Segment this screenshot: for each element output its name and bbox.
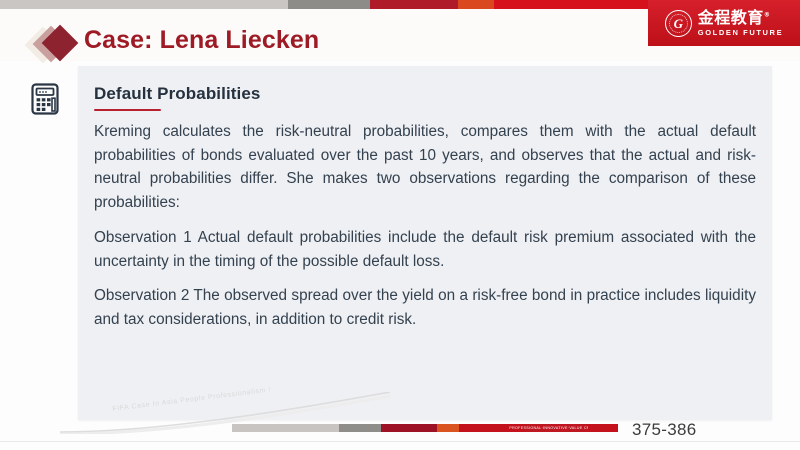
- topbar-segment-dark-gray: [288, 0, 370, 9]
- footer-tagline: PROFESSIONAL·INNOVATIVE·VALUE CREATING: [526, 424, 588, 432]
- footbar-segment-orange: [437, 424, 459, 432]
- content-panel: Default Probabilities Kreming calculates…: [78, 66, 772, 420]
- footer-decorative-bar: PROFESSIONAL·INNOVATIVE·VALUE CREATING: [232, 424, 618, 432]
- section-heading: Default Probabilities: [94, 84, 260, 104]
- paragraph-intro: Kreming calculates the risk-neutral prob…: [94, 120, 756, 215]
- footbar-segment-red-end: [588, 424, 618, 432]
- slide-canvas: Case: Lena Liecken G 金程教育® GOLDEN FUTURE: [0, 0, 800, 450]
- footbar-segment-light-gray: [232, 424, 339, 432]
- topbar-segment-light-gray: [0, 0, 288, 9]
- paragraph-observation-1: Observation 1 Actual default probabiliti…: [94, 226, 756, 273]
- logo-registered-mark: ®: [764, 11, 771, 18]
- footbar-segment-mid-gray: [339, 424, 381, 432]
- calculator-icon: [28, 82, 62, 116]
- topbar-segment-dark-red: [370, 0, 458, 9]
- logo-name-en: GOLDEN FUTURE: [698, 29, 783, 37]
- logo-seal-glyph: G: [674, 17, 683, 30]
- bottom-divider: [0, 441, 800, 442]
- page-number: 375-386: [632, 420, 697, 440]
- brand-logo: G 金程教育® GOLDEN FUTURE: [648, 0, 800, 46]
- paragraph-observation-2: Observation 2 The observed spread over t…: [94, 284, 756, 331]
- page-title: Case: Lena Liecken: [84, 26, 319, 55]
- footbar-segment-dark-red: [381, 424, 437, 432]
- diamond-mark-icon: [30, 25, 84, 65]
- logo-name-cn: 金程教育®: [698, 10, 783, 26]
- topbar-segment-orange: [458, 0, 494, 9]
- logo-seal-icon: G: [665, 10, 692, 37]
- heading-underline: [94, 109, 161, 111]
